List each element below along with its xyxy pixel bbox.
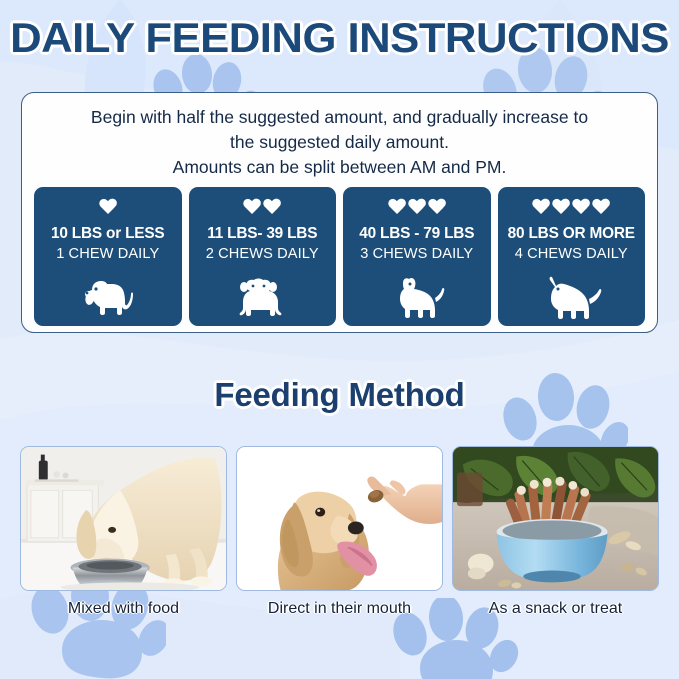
instructions-line-3: Amounts can be split between AM and PM. [38,155,641,180]
page-title: DAILY FEEDING INSTRUCTIONS [0,14,679,62]
dosage-card-40-79lbs[interactable]: 40 LBS - 79 LBS 3 CHEWS DAILY [343,187,491,326]
heart-rating-4 [532,196,610,218]
heart-icon [243,198,261,216]
dose-label: 1 CHEW DAILY [56,246,159,262]
heart-rating-1 [99,196,117,218]
dose-label: 4 CHEWS DAILY [515,246,628,262]
feeding-method-caption: Direct in their mouth [236,599,443,619]
weight-range-label: 80 LBS OR MORE [508,225,635,243]
heart-icon [263,198,281,216]
heart-icon [552,198,570,216]
heart-icon [99,198,117,216]
feeding-method-caption: As a snack or treat [452,599,659,619]
heart-icon [572,198,590,216]
dosage-card-11-39lbs[interactable]: 11 LBS- 39 LBS 2 CHEWS DAILY [189,187,337,326]
heart-icon [408,198,426,216]
hand-feeding-treat-to-cocker-spaniel-photo [236,446,443,591]
feeding-instructions-panel: Begin with half the suggested amount, an… [21,92,658,333]
heart-rating-3 [388,196,446,218]
bulldog-icon [189,272,337,320]
dosage-card-80lbs-or-more[interactable]: 80 LBS OR MORE 4 CHEWS DAILY [498,187,646,326]
instructions-line-2: the suggested daily amount. [38,130,641,155]
heart-icon [592,198,610,216]
dose-label: 2 CHEWS DAILY [206,246,319,262]
feeding-method-item-3: As a snack or treat [452,446,659,619]
instructions-line-1: Begin with half the suggested amount, an… [38,105,641,130]
small-dog-icon [34,272,182,320]
heart-icon [388,198,406,216]
feeding-method-photo-row: Mixed with food [20,446,659,619]
feeding-method-item-1: Mixed with food [20,446,227,619]
weight-range-label: 11 LBS- 39 LBS [207,225,317,243]
feeding-method-caption: Mixed with food [20,599,227,619]
shepherd-dog-icon [498,272,646,320]
infographic-root: DAILY FEEDING INSTRUCTIONS Begin with ha… [0,0,679,679]
blue-bowl-of-chew-sticks-photo [452,446,659,591]
dosage-card-10lbs-or-less[interactable]: 10 LBS or LESS 1 CHEW DAILY [34,187,182,326]
dose-label: 3 CHEWS DAILY [360,246,473,262]
dosage-card-row: 10 LBS or LESS 1 CHEW DAILY 1 [34,187,645,326]
instructions-text: Begin with half the suggested amount, an… [38,105,641,180]
feeding-method-item-2: Direct in their mouth [236,446,443,619]
medium-dog-icon [343,272,491,320]
heart-icon [532,198,550,216]
weight-range-label: 40 LBS - 79 LBS [359,225,474,243]
heart-rating-2 [243,196,281,218]
weight-range-label: 10 LBS or LESS [51,225,165,243]
heart-icon [428,198,446,216]
section-title-feeding-method: Feeding Method [0,375,679,415]
golden-retriever-eating-from-steel-bowl-photo [20,446,227,591]
